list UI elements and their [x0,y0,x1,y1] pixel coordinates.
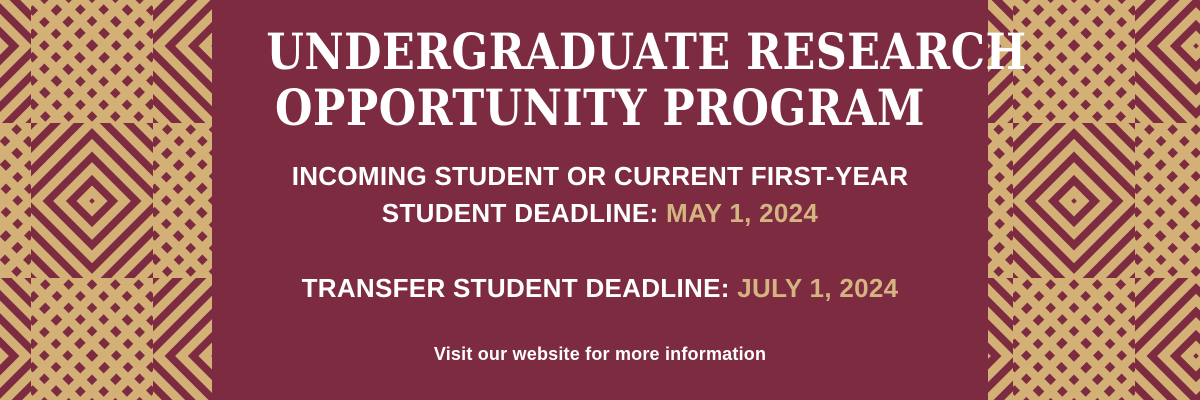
pattern-diamond-ring [1013,123,1135,278]
title-line-2: OPPORTUNITY PROGRAM [266,80,933,136]
pattern-diamond-ring [153,278,212,400]
pattern-cross-tile [1013,278,1135,400]
deadline-1-label-line-2: STUDENT DEADLINE: MAY 1, 2024 [212,195,988,232]
pattern-diamond-ring [1135,278,1200,400]
pattern-diamond-tile [1013,123,1135,278]
deadline-1-label-text: STUDENT DEADLINE: [382,198,659,228]
deadline-1-label-line-1: INCOMING STUDENT OR CURRENT FIRST-YEAR [212,158,988,195]
page-title: UNDERGRADUATE RESEARCH OPPORTUNITY PROGR… [212,0,988,136]
pattern-cross-tile [31,0,153,123]
pattern-diamond-ring [31,123,153,278]
pattern-cross-tile [153,123,212,278]
website-footnote: Visit our website for more information [212,344,988,365]
title-line-1: UNDERGRADUATE RESEARCH [266,24,933,80]
left-pattern-panel [0,0,212,400]
urop-deadline-banner: UNDERGRADUATE RESEARCH OPPORTUNITY PROGR… [0,0,1200,400]
pattern-diamond-tile [0,0,31,123]
pattern-diamond-tile [0,278,31,400]
banner-content: UNDERGRADUATE RESEARCH OPPORTUNITY PROGR… [212,0,988,400]
deadline-incoming-student: INCOMING STUDENT OR CURRENT FIRST-YEAR S… [212,158,988,232]
pattern-diamond-tile [1135,0,1200,123]
deadline-2-label-text: TRANSFER STUDENT DEADLINE: [302,273,730,303]
pattern-diamond-tile [153,278,212,400]
pattern-cross-tile [1135,123,1200,278]
pattern-cross-tile [988,123,1013,278]
deadline-2-date: JULY 1, 2024 [737,273,898,303]
pattern-cross-tile [31,278,153,400]
deadline-2-label-line-1: TRANSFER STUDENT DEADLINE: JULY 1, 2024 [212,270,988,307]
pattern-cross-tile [1013,0,1135,123]
pattern-diamond-ring [0,0,31,123]
pattern-diamond-tile [153,0,212,123]
pattern-diamond-ring [1135,0,1200,123]
deadline-transfer-student: TRANSFER STUDENT DEADLINE: JULY 1, 2024 [212,270,988,307]
pattern-cross-tile [0,123,31,278]
pattern-diamond-ring [153,0,212,123]
left-pattern-tiles [0,0,212,400]
pattern-diamond-ring [0,278,31,400]
deadline-1-date: MAY 1, 2024 [666,198,818,228]
pattern-diamond-ring [988,146,1013,278]
pattern-diamond-tile [988,278,1013,400]
pattern-diamond-tile [31,123,153,278]
pattern-diamond-tile [1135,278,1200,400]
pattern-diamond-ring [988,278,1013,400]
